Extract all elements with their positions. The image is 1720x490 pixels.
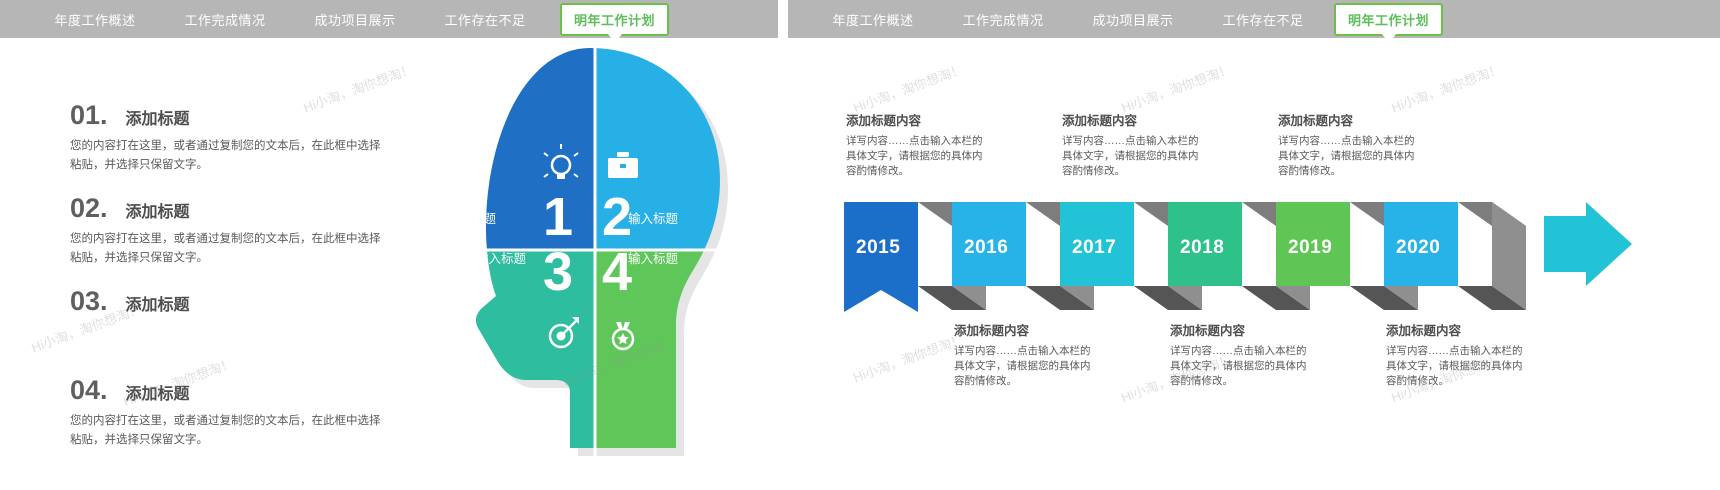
timeline-card-top-1: 添加标题内容 详写内容……点击输入本栏的具体文字，请根据您的具体内容酌情修改。 [846, 110, 986, 179]
nav-item-2[interactable]: 成功项目展示 [290, 10, 420, 29]
nav-item-0[interactable]: 年度工作概述 [30, 10, 160, 29]
left-content-list: 01. 添加标题 您的内容打在这里，或者通过复制您的文本后，在此框中选择粘贴，并… [70, 100, 400, 460]
nav-item-4-active[interactable]: 明年工作计划 [1334, 3, 1443, 36]
item-number: 01. [70, 100, 108, 131]
list-item: 03. 添加标题 [70, 286, 400, 317]
year-label-2017: 2017 [1072, 237, 1116, 259]
item-title: 添加标题 [126, 198, 190, 222]
quadrant-4-number: 4 [602, 245, 632, 299]
item-number: 03. [70, 286, 108, 317]
slide-left: 年度工作概述 工作完成情况 成功项目展示 工作存在不足 明年工作计划 01. 添… [0, 0, 778, 490]
nav-item-1[interactable]: 工作完成情况 [938, 10, 1068, 29]
card-title: 添加标题内容 [954, 320, 1094, 339]
card-body: 详写内容……点击输入本栏的具体文字，请根据您的具体内容酌情修改。 [1386, 344, 1526, 389]
quadrant-2-number: 2 [602, 190, 632, 244]
card-title: 添加标题内容 [1062, 110, 1202, 129]
timeline-graphic [788, 38, 1720, 458]
card-body: 详写内容……点击输入本栏的具体文字，请根据您的具体内容酌情修改。 [954, 344, 1094, 389]
nav-item-0[interactable]: 年度工作概述 [808, 10, 938, 29]
timeline-card-top-2: 添加标题内容 详写内容……点击输入本栏的具体文字，请根据您的具体内容酌情修改。 [1062, 110, 1202, 179]
timeline-card-bottom-1: 添加标题内容 详写内容……点击输入本栏的具体文字，请根据您的具体内容酌情修改。 [954, 320, 1094, 389]
nav-item-1[interactable]: 工作完成情况 [160, 10, 290, 29]
slides-stage: 年度工作概述 工作完成情况 成功项目展示 工作存在不足 明年工作计划 01. 添… [0, 0, 1720, 490]
card-title: 添加标题内容 [1386, 320, 1526, 339]
nav-item-4-active[interactable]: 明年工作计划 [560, 3, 669, 36]
quadrant-4-label: 输入标题 [628, 248, 678, 267]
item-title: 添加标题 [126, 105, 190, 129]
list-item: 01. 添加标题 您的内容打在这里，或者通过复制您的文本后，在此框中选择粘贴，并… [70, 100, 400, 175]
top-navbar-right: 年度工作概述 工作完成情况 成功项目展示 工作存在不足 明年工作计划 [788, 0, 1720, 38]
quadrant-2-label: 输入标题 [628, 208, 678, 227]
slide-right: 年度工作概述 工作完成情况 成功项目展示 工作存在不足 明年工作计划 [788, 0, 1720, 490]
card-body: 详写内容……点击输入本栏的具体文字，请根据您的具体内容酌情修改。 [1062, 134, 1202, 179]
list-item: 04. 添加标题 您的内容打在这里，或者通过复制您的文本后，在此框中选择粘贴，并… [70, 375, 400, 450]
item-title: 添加标题 [126, 380, 190, 404]
card-body: 详写内容……点击输入本栏的具体文字，请根据您的具体内容酌情修改。 [1170, 344, 1310, 389]
year-label-2020: 2020 [1396, 237, 1440, 259]
item-description: 您的内容打在这里，或者通过复制您的文本后，在此框中选择粘贴，并选择只保留文字。 [70, 412, 390, 450]
year-label-2016: 2016 [964, 237, 1008, 259]
list-item: 02. 添加标题 您的内容打在这里，或者通过复制您的文本后，在此框中选择粘贴，并… [70, 193, 400, 268]
timeline-arrow-icon [1544, 202, 1632, 286]
timeline-card-bottom-3: 添加标题内容 详写内容……点击输入本栏的具体文字，请根据您的具体内容酌情修改。 [1386, 320, 1526, 389]
nav-item-3[interactable]: 工作存在不足 [420, 10, 550, 29]
head-infographic: 输入标题 输入标题 输入标题 输入标题 1 2 3 4 [430, 40, 760, 460]
year-label-2018: 2018 [1180, 237, 1224, 259]
card-title: 添加标题内容 [1278, 110, 1418, 129]
year-label-2019: 2019 [1288, 237, 1332, 259]
item-number: 04. [70, 375, 108, 406]
nav-item-3[interactable]: 工作存在不足 [1198, 10, 1328, 29]
quadrant-3-label: 输入标题 [476, 248, 526, 267]
item-description: 您的内容打在这里，或者通过复制您的文本后，在此框中选择粘贴，并选择只保留文字。 [70, 230, 390, 268]
card-body: 详写内容……点击输入本栏的具体文字，请根据您的具体内容酌情修改。 [846, 134, 986, 179]
year-label-2015: 2015 [856, 237, 900, 259]
card-body: 详写内容……点击输入本栏的具体文字，请根据您的具体内容酌情修改。 [1278, 134, 1418, 179]
top-navbar-left: 年度工作概述 工作完成情况 成功项目展示 工作存在不足 明年工作计划 [0, 0, 778, 38]
quadrant-1-label: 输入标题 [446, 208, 496, 227]
timeline-card-bottom-2: 添加标题内容 详写内容……点击输入本栏的具体文字，请根据您的具体内容酌情修改。 [1170, 320, 1310, 389]
quadrant-1-number: 1 [543, 190, 573, 244]
item-description: 您的内容打在这里，或者通过复制您的文本后，在此框中选择粘贴，并选择只保留文字。 [70, 137, 390, 175]
slide-divider [778, 0, 788, 490]
card-title: 添加标题内容 [1170, 320, 1310, 339]
quadrant-3-number: 3 [543, 245, 573, 299]
card-title: 添加标题内容 [846, 110, 986, 129]
nav-item-2[interactable]: 成功项目展示 [1068, 10, 1198, 29]
item-title: 添加标题 [126, 291, 190, 315]
item-number: 02. [70, 193, 108, 224]
timeline-card-top-3: 添加标题内容 详写内容……点击输入本栏的具体文字，请根据您的具体内容酌情修改。 [1278, 110, 1418, 179]
